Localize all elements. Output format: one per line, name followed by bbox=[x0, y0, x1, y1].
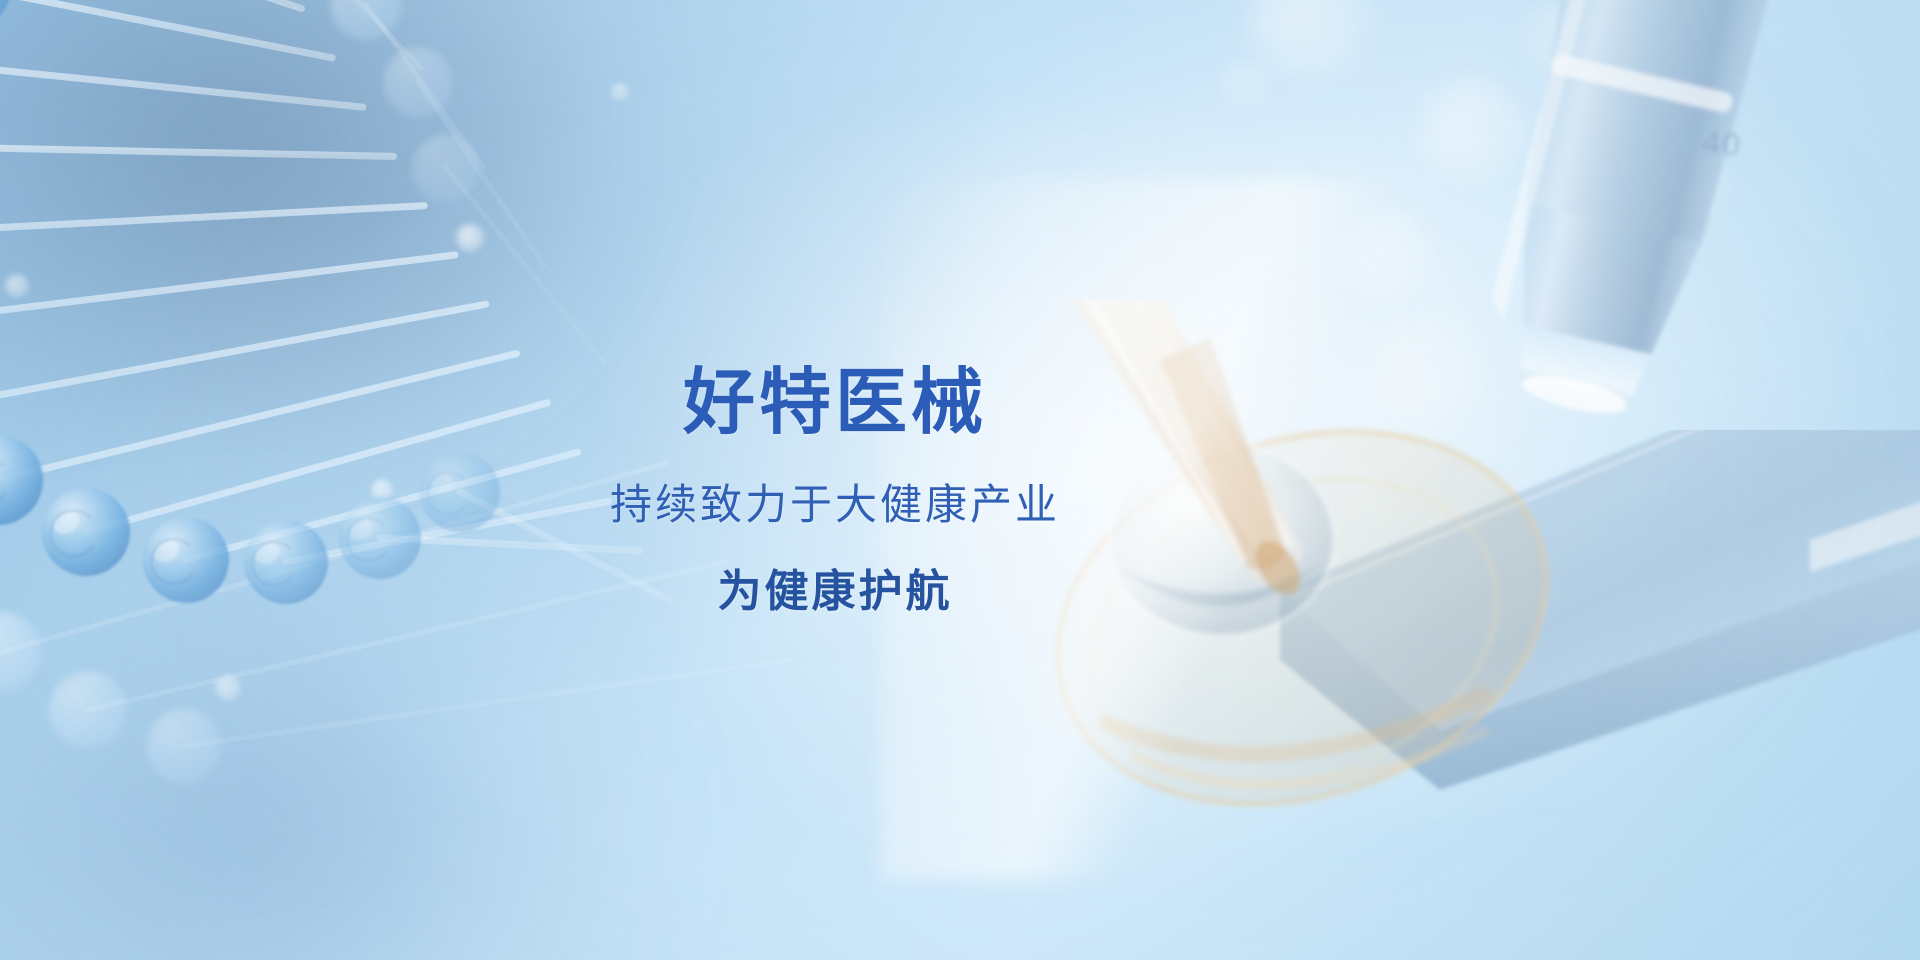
hero-banner: 40 bbox=[0, 0, 1920, 960]
page-tagline: 为健康护航 bbox=[610, 570, 1060, 614]
hero-copy: 好特医械 持续致力于大健康产业 为健康护航 bbox=[0, 0, 1920, 960]
page-title: 好特医械 bbox=[610, 366, 1060, 438]
page-subtitle: 持续致力于大健康产业 bbox=[610, 484, 1060, 526]
